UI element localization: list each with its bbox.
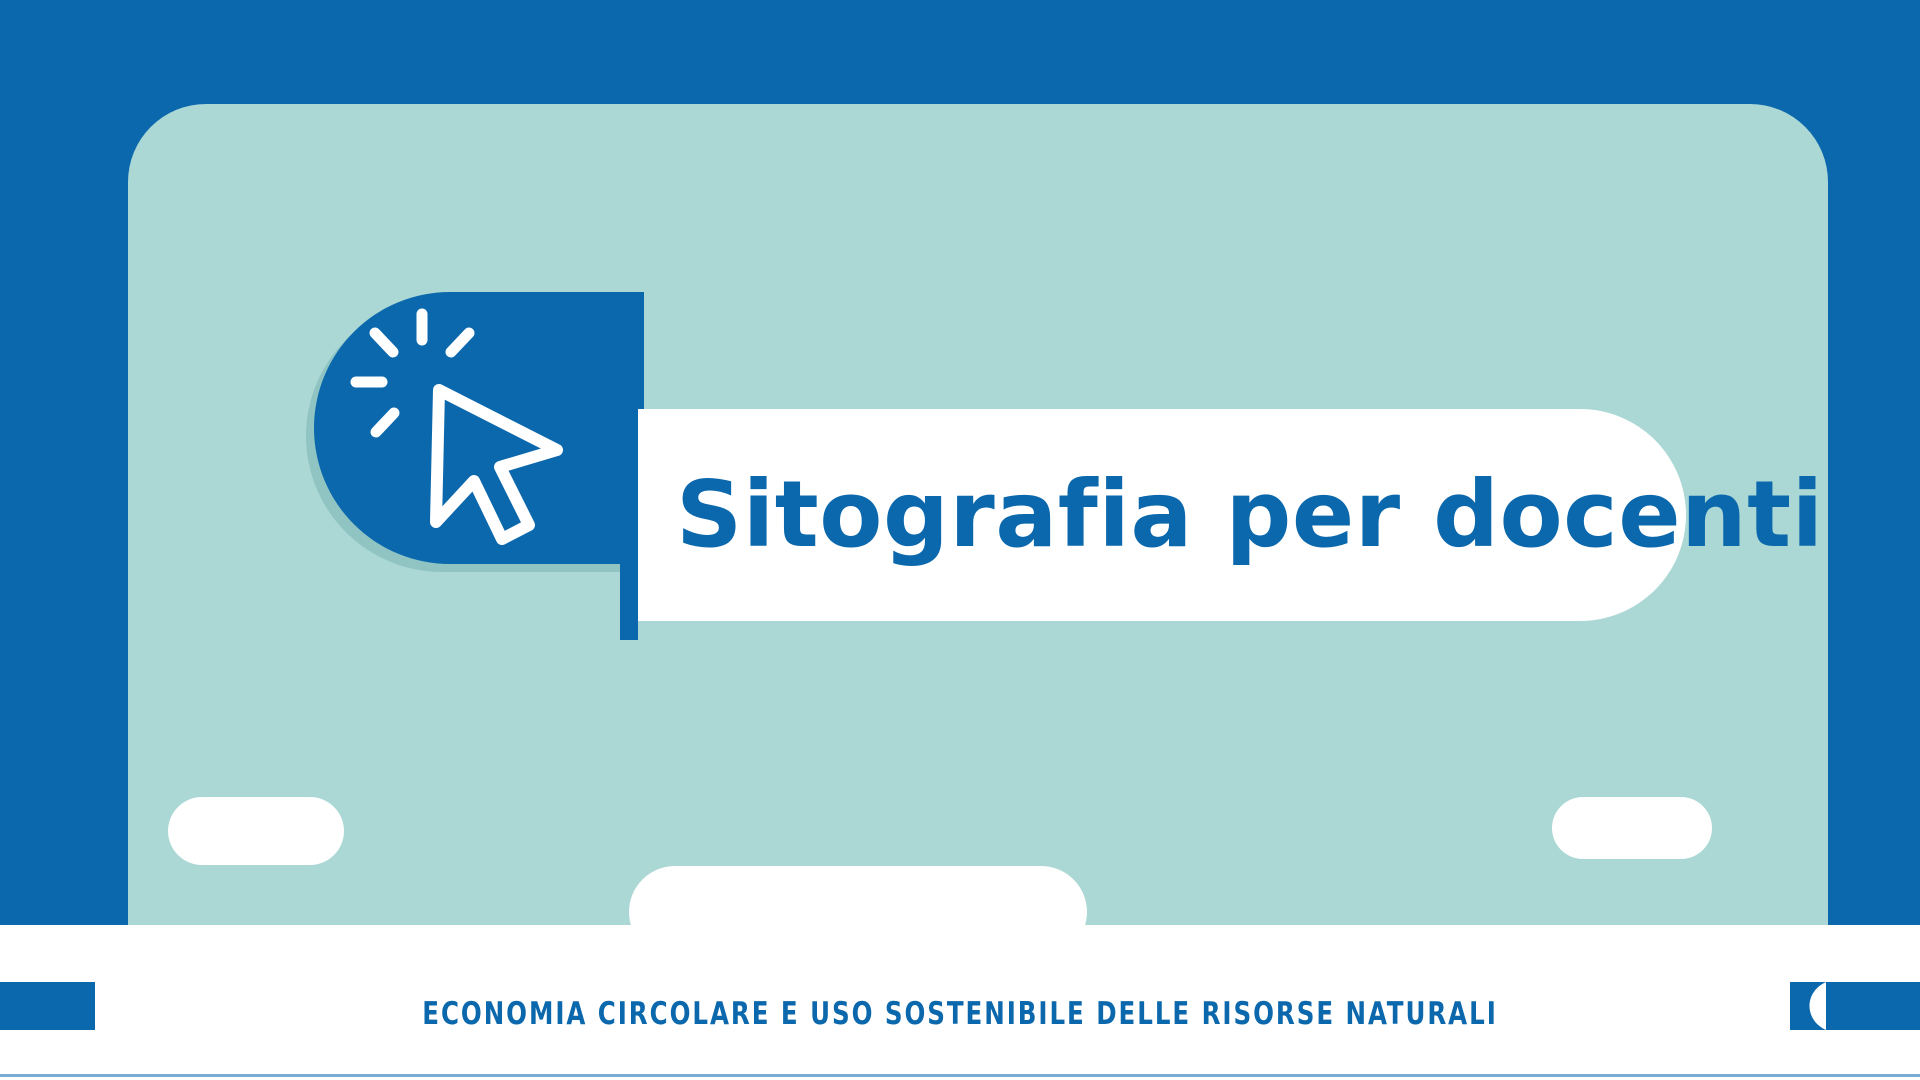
- decorative-pill-left: [168, 797, 344, 865]
- base-notch-mid: [403, 925, 1087, 987]
- base-notch-left: [0, 925, 270, 987]
- click-cursor-icon: [314, 292, 644, 564]
- title-accent-bar: [620, 292, 638, 640]
- footer-hairline: [0, 1074, 1920, 1077]
- ribbon-flag-right: [1826, 982, 1920, 1030]
- page-title: Sitografia per docenti: [638, 469, 1824, 561]
- ribbon-flag-left: [0, 982, 94, 1030]
- title-search-pill: Sitografia per docenti: [638, 409, 1686, 621]
- slide-canvas: Sitografia per docenti ECONOMIA CIRCOLAR…: [0, 0, 1920, 1080]
- footer-caption: ECONOMIA CIRCOLARE E USO SOSTENIBILE DEL…: [115, 996, 1805, 1032]
- decorative-pill-right: [1552, 797, 1712, 859]
- base-notch-right: [1520, 925, 1920, 987]
